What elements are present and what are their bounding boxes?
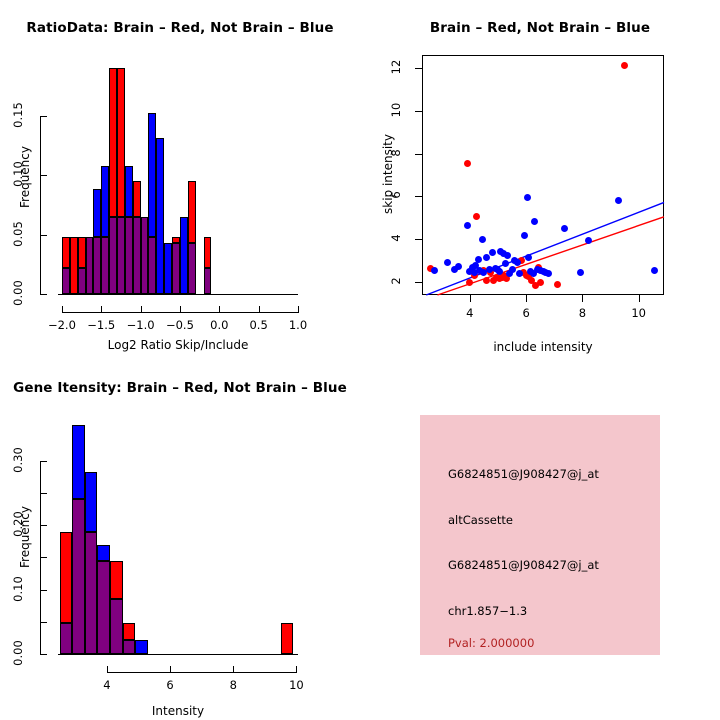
histogram-bar-overlap xyxy=(148,237,156,294)
scatter-point xyxy=(585,237,592,244)
x-axis-tick xyxy=(526,295,527,302)
ratio-y-axis-title: Frequency xyxy=(18,97,32,257)
y-axis-tick xyxy=(40,493,47,494)
scatter-point xyxy=(516,270,523,277)
histogram-bar-overlap xyxy=(72,499,85,654)
x-axis-tick-label: 8 xyxy=(203,678,263,692)
histogram-bar xyxy=(93,189,101,237)
histogram-bar xyxy=(156,138,164,294)
x-axis-tick xyxy=(296,666,297,673)
scatter-point xyxy=(531,218,538,225)
histogram-bar xyxy=(125,166,133,217)
x-axis-tick xyxy=(107,666,108,673)
histogram-bar xyxy=(60,532,73,624)
y-axis-tick xyxy=(40,235,47,236)
scatter-panel-title: Brain – Red, Not Brain – Blue xyxy=(360,20,720,36)
y-axis-tick xyxy=(40,175,47,176)
x-axis-tick-label: 10 xyxy=(266,678,326,692)
scatter-point xyxy=(479,236,486,243)
histogram-bar xyxy=(110,561,123,600)
y-axis-tick xyxy=(40,622,47,623)
y-axis-tick-label: 2 xyxy=(389,265,403,297)
y-axis-tick xyxy=(415,68,422,69)
x-axis-tick xyxy=(470,295,471,302)
y-axis-tick xyxy=(415,282,422,283)
histogram-bar xyxy=(164,243,172,294)
histogram-bar-overlap xyxy=(110,599,123,654)
y-axis-tick xyxy=(415,154,422,155)
histogram-bar xyxy=(101,166,109,237)
histogram-bar xyxy=(72,425,85,499)
info-locus: chr1.857−1.3 xyxy=(448,604,527,618)
x-axis-tickbar xyxy=(107,672,296,673)
histogram-bar-overlap xyxy=(101,237,109,294)
gene-plot-area: 0.000.100.200.3046810 xyxy=(58,422,298,654)
y-axis-tick xyxy=(40,654,47,655)
x-axis-tick xyxy=(259,306,260,313)
scatter-point xyxy=(554,281,561,288)
x-axis-tick xyxy=(639,295,640,302)
histogram-bar-overlap xyxy=(141,217,149,294)
y-axis-tick xyxy=(40,294,47,295)
histogram-bar-overlap xyxy=(188,243,196,294)
scatter-point xyxy=(561,225,568,232)
histogram-bar-overlap xyxy=(86,237,94,294)
scatter-point xyxy=(483,277,490,284)
x-axis-tick xyxy=(180,306,181,313)
info-event-type: altCassette xyxy=(448,513,513,527)
histogram-bar-overlap xyxy=(62,268,70,294)
x-axis-line xyxy=(58,294,298,295)
histogram-bar-overlap xyxy=(123,640,136,654)
y-axis-tick-label: 0.00 xyxy=(11,275,25,311)
y-axis-tick-label: 12 xyxy=(389,51,403,83)
histogram-bar xyxy=(123,623,136,640)
x-axis-tick-label: 6 xyxy=(140,678,200,692)
scatter-point xyxy=(524,194,531,201)
scatter-point xyxy=(489,249,496,256)
scatter-trendlines xyxy=(422,55,664,295)
y-axis-tick xyxy=(415,111,422,112)
y-axis-tick xyxy=(40,557,47,558)
y-axis-tick-label: 0.00 xyxy=(11,635,25,671)
histogram-bar-overlap xyxy=(133,217,141,294)
panel-gene-intensity-histogram: Gene Itensity: Brain – Red, Not Brain – … xyxy=(0,360,360,720)
histogram-bar xyxy=(70,237,78,294)
panel-intensity-scatter: Brain – Red, Not Brain – Blue 2468101246… xyxy=(360,0,720,360)
histogram-bar xyxy=(133,181,141,217)
scatter-point xyxy=(537,279,544,286)
histogram-bar-overlap xyxy=(93,237,101,294)
y-axis-tick xyxy=(415,196,422,197)
scatter-point xyxy=(455,263,462,270)
x-axis-tick xyxy=(582,295,583,302)
histogram-bar-overlap xyxy=(109,217,117,294)
histogram-bar xyxy=(62,237,70,268)
ratio-x-axis-title: Log2 Ratio Skip/Include xyxy=(58,338,298,352)
info-gene-id: G6824851@J908427@j_at xyxy=(448,558,599,572)
x-axis-tick xyxy=(101,306,102,313)
scatter-point xyxy=(496,268,503,275)
x-axis-tick xyxy=(141,306,142,313)
info-probe-id: G6824851@J908427@j_at xyxy=(448,467,599,481)
x-axis-line xyxy=(58,654,298,655)
histogram-bar-overlap xyxy=(85,532,98,654)
ratio-plot-area: 0.000.050.100.15−2.0−1.5−1.0−0.50.00.51.… xyxy=(58,62,298,294)
gene-panel-title: Gene Itensity: Brain – Red, Not Brain – … xyxy=(0,380,360,396)
histogram-bar xyxy=(135,640,148,654)
y-axis-tick xyxy=(40,590,47,591)
x-axis-tick xyxy=(219,306,220,313)
x-axis-tick xyxy=(233,666,234,673)
histogram-bar xyxy=(85,472,98,532)
y-axis-tick xyxy=(415,239,422,240)
y-axis-tick xyxy=(40,461,47,462)
gene-y-axis-title: Frequency xyxy=(18,457,32,617)
histogram-bar xyxy=(97,545,110,560)
panel-annotation-info: G6824851@J908427@j_at altCassette G68248… xyxy=(360,360,720,720)
scatter-point xyxy=(475,256,482,263)
y-axis-tick xyxy=(40,525,47,526)
scatter-point xyxy=(509,266,516,273)
histogram-bar xyxy=(117,68,125,217)
histogram-bar xyxy=(188,181,196,243)
histogram-bar xyxy=(281,623,294,654)
x-axis-tick xyxy=(170,666,171,673)
x-axis-tick xyxy=(62,306,63,313)
histogram-bar-overlap xyxy=(60,623,73,654)
histogram-bar-overlap xyxy=(125,217,133,294)
histogram-bar xyxy=(204,237,212,268)
x-axis-tick-label: 8 xyxy=(557,306,607,320)
x-axis-tick-label: 10 xyxy=(614,306,664,320)
scatter-point xyxy=(466,279,473,286)
x-axis-tick xyxy=(298,306,299,313)
scatter-point xyxy=(502,260,509,267)
histogram-bar-overlap xyxy=(204,268,212,294)
y-axis-tick xyxy=(40,116,47,117)
x-axis-tick-label: 4 xyxy=(77,678,137,692)
scatter-plot-area: 2468101246810 xyxy=(422,55,664,295)
info-panel-box: G6824851@J908427@j_at altCassette G68248… xyxy=(420,415,660,655)
trendline xyxy=(426,202,664,295)
histogram-bar xyxy=(109,68,117,217)
scatter-y-axis-title: skip intensity xyxy=(381,94,395,254)
x-axis-tick-label: 4 xyxy=(445,306,495,320)
histogram-bar-overlap xyxy=(172,243,180,294)
histogram-bar-overlap xyxy=(97,561,110,654)
scatter-point xyxy=(464,160,471,167)
x-axis-tick-label: 1.0 xyxy=(268,318,328,332)
scatter-x-axis-title: include intensity xyxy=(422,340,664,354)
histogram-bar xyxy=(148,113,156,237)
histogram-bar-overlap xyxy=(117,217,125,294)
ratio-panel-title: RatioData: Brain – Red, Not Brain – Blue xyxy=(0,20,360,36)
histogram-bar xyxy=(78,237,86,268)
histogram-bar xyxy=(180,217,188,294)
info-pval: Pval: 2.000000 xyxy=(448,636,534,650)
scatter-point xyxy=(464,222,471,229)
scatter-point xyxy=(521,232,528,239)
figure-canvas: RatioData: Brain – Red, Not Brain – Blue… xyxy=(0,0,720,720)
gene-x-axis-title: Intensity xyxy=(58,704,298,718)
scatter-point xyxy=(651,267,658,274)
y-axis-line xyxy=(40,116,41,294)
x-axis-tick-label: 6 xyxy=(501,306,551,320)
histogram-bar-overlap xyxy=(78,268,86,294)
scatter-point xyxy=(431,267,438,274)
panel-ratio-histogram: RatioData: Brain – Red, Not Brain – Blue… xyxy=(0,0,360,360)
